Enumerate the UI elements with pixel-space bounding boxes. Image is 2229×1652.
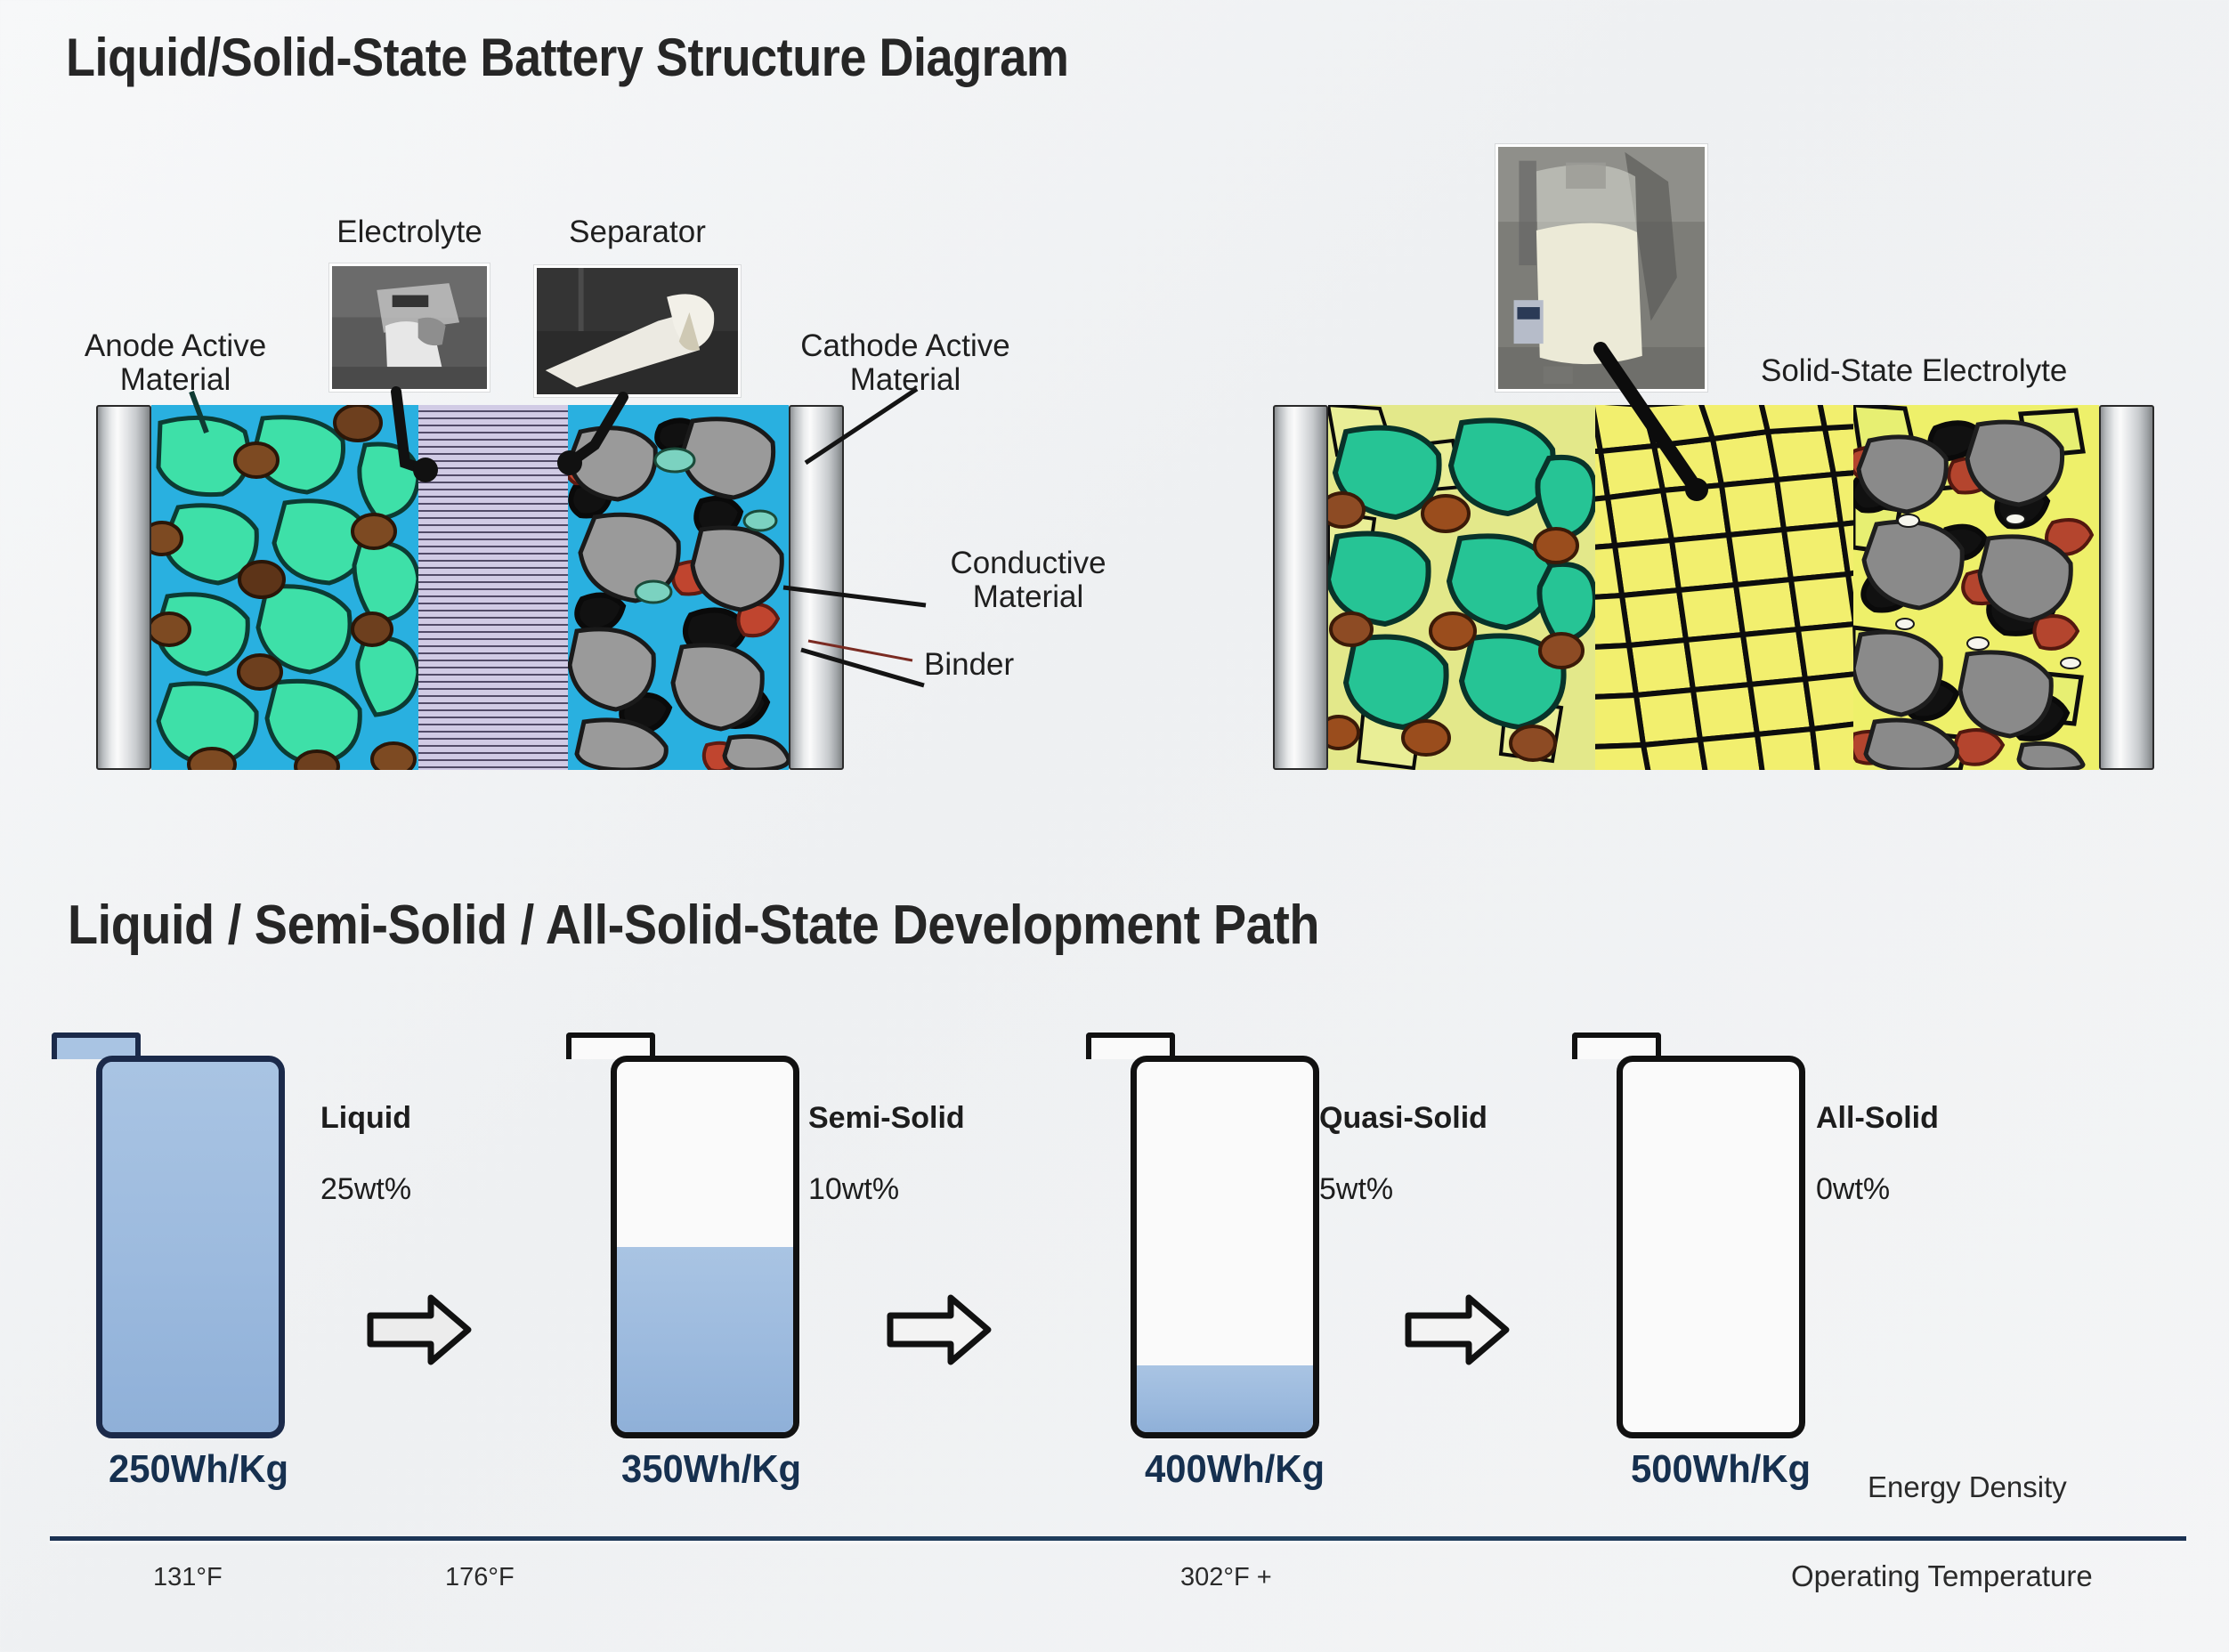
battery-fill-level [1137, 1365, 1313, 1432]
battery-wt-value: 25wt% [320, 1172, 411, 1206]
conductive-material-label: Conductive Material [917, 547, 1139, 614]
separator-label: Separator [534, 215, 741, 249]
battery-wt-value: 10wt% [808, 1172, 899, 1206]
energy-density-semi-solid: 350Wh/Kg [621, 1447, 801, 1492]
right-arrow-icon-3 [1405, 1292, 1510, 1367]
cathode-particles [568, 405, 789, 770]
battery-fill-level [102, 1062, 279, 1432]
separator-layer [418, 405, 568, 770]
axis-divider-line [50, 1536, 2186, 1541]
solid-electrolyte-photo-thumbnail [1495, 144, 1707, 392]
battery-state-name: Semi-Solid [808, 1100, 1031, 1136]
operating-temp-quasi-solid: 302°F + [1180, 1563, 1272, 1592]
energy-density-quasi-solid: 400Wh/Kg [1145, 1447, 1325, 1492]
page-title: Liquid/Solid-State Battery Structure Dia… [66, 27, 1068, 88]
solid-state-cell-cross-section [1273, 405, 2154, 770]
battery-fill-level [617, 1247, 793, 1432]
battery-body [1617, 1056, 1805, 1438]
solid-anode-current-collector [1273, 405, 1328, 770]
battery-body [96, 1056, 285, 1438]
battery-state-name: All-Solid [1816, 1100, 2039, 1136]
solid-electrolyte-grains [1595, 405, 1853, 770]
cathode-current-collector [789, 405, 844, 770]
solid-state-electrolyte-layer [1595, 405, 1853, 770]
anode-active-material-label: Anode Active Material [55, 329, 296, 397]
solid-electrode-stack [1328, 405, 2099, 770]
energy-density-caption: Energy Density [1868, 1470, 2067, 1504]
battery-label-liquid: Liquid 25wt% [320, 1065, 525, 1207]
solid-cathode-layer [1853, 405, 2099, 770]
energy-density-liquid: 250Wh/Kg [109, 1447, 288, 1492]
separator-film-illustration [537, 268, 738, 394]
battery-body [1131, 1056, 1319, 1438]
battery-label-quasi-solid: Quasi-Solid 5wt% [1319, 1065, 1551, 1207]
energy-density-all-solid: 500Wh/Kg [1631, 1447, 1811, 1492]
battery-label-all-solid: All-Solid 0wt% [1816, 1065, 2039, 1207]
solid-electrolyte-tank-illustration [1498, 147, 1705, 389]
battery-wt-value: 0wt% [1816, 1172, 1890, 1206]
operating-temp-semi-solid: 176°F [445, 1563, 515, 1592]
liquid-cell-cross-section [96, 405, 844, 770]
solid-cathode-particles [1853, 405, 2099, 770]
separator-photo-thumbnail [534, 265, 741, 397]
electrolyte-photo-thumbnail [329, 263, 490, 392]
section-title-development-path: Liquid / Semi-Solid / All-Solid-State De… [68, 894, 1319, 957]
liquid-electrode-stack [151, 405, 789, 770]
operating-temp-liquid: 131°F [153, 1563, 223, 1592]
battery-wt-value: 5wt% [1319, 1172, 1393, 1206]
cathode-active-material-label: Cathode Active Material [767, 329, 1043, 397]
solid-cathode-current-collector [2099, 405, 2154, 770]
cathode-active-layer [568, 405, 789, 770]
right-arrow-icon-2 [887, 1292, 992, 1367]
battery-state-name: Quasi-Solid [1319, 1100, 1551, 1136]
anode-active-layer [151, 405, 418, 770]
battery-label-semi-solid: Semi-Solid 10wt% [808, 1065, 1031, 1207]
solid-anode-particles [1328, 405, 1595, 770]
operating-temperature-caption: Operating Temperature [1791, 1559, 2093, 1593]
battery-body [611, 1056, 799, 1438]
right-arrow-icon-1 [367, 1292, 472, 1367]
solid-state-electrolyte-label: Solid-State Electrolyte [1761, 354, 2229, 388]
electrolyte-label: Electrolyte [303, 215, 516, 249]
solid-anode-layer [1328, 405, 1595, 770]
electrolyte-bottle-illustration [332, 266, 487, 389]
battery-state-name: Liquid [320, 1100, 525, 1136]
anode-particles [151, 405, 418, 770]
binder-label: Binder [924, 648, 1102, 682]
anode-current-collector [96, 405, 151, 770]
